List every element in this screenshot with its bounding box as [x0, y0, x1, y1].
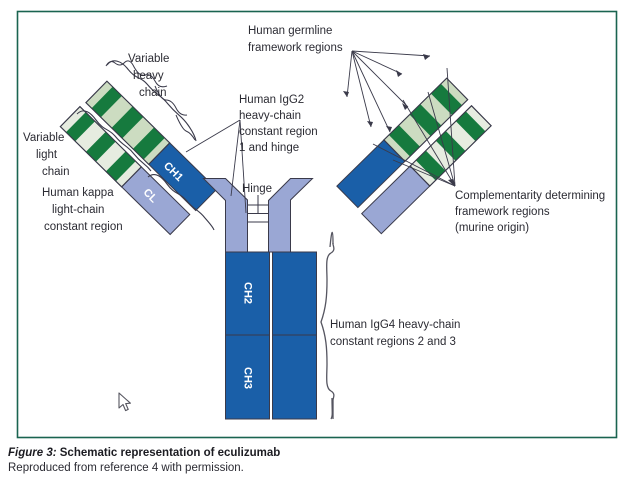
- ch3-label: CH3: [242, 367, 254, 389]
- label-hinge: Hinge: [242, 183, 272, 195]
- figure-container: CH1 CL: [0, 0, 633, 485]
- caption-credit: Reproduced from reference 4 with permiss…: [8, 461, 608, 476]
- ch2-label: CH2: [242, 282, 254, 304]
- mouse-cursor-icon: [118, 392, 132, 412]
- antibody-schematic-svg: CH1 CL: [0, 0, 633, 485]
- caption-title-text: Schematic representation of eculizumab: [60, 447, 280, 459]
- right-ch2-domain: [273, 252, 317, 335]
- right-ch3-domain: [273, 335, 317, 419]
- caption-title-line: Figure 3: Schematic representation of ec…: [8, 446, 608, 461]
- figure-caption: Figure 3: Schematic representation of ec…: [8, 446, 608, 476]
- caption-figure-number: Figure 3:: [8, 447, 57, 459]
